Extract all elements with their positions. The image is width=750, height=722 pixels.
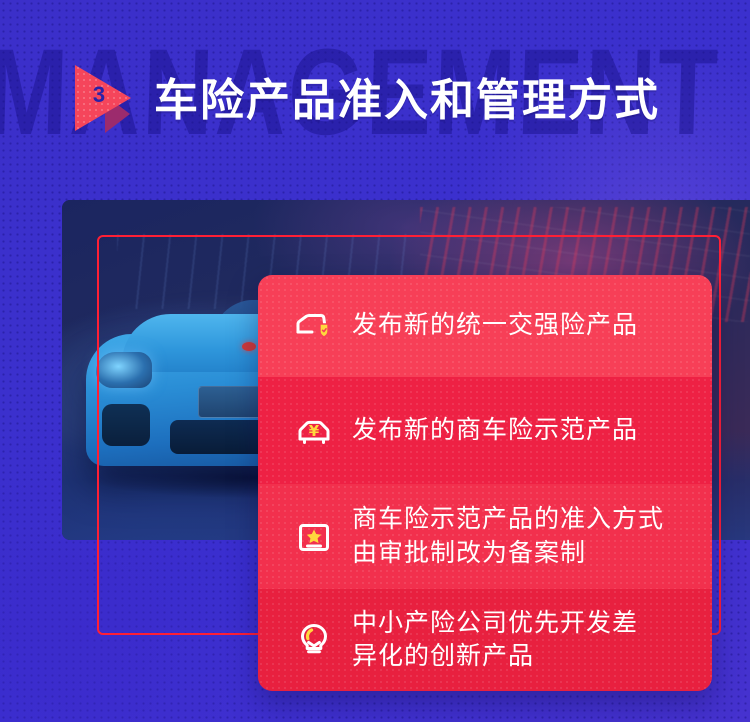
card-row-3[interactable]: 商车险示范产品的准入方式 由审批制改为备案制 [258,484,712,589]
card-row-4-text: 中小产险公司优先开发差 异化的创新产品 [352,607,638,674]
card-row-2[interactable]: ¥ 发布新的商车险示范产品 [258,377,712,484]
points-card: 发布新的统一交强险产品 ¥ 发布新的商车险示范产品 [258,275,712,691]
page-header: 3 车险产品准入和管理方式 [0,56,750,146]
card-row-4[interactable]: 中小产险公司优先开发差 异化的创新产品 [258,589,712,691]
triangle-play-icon: 3 [72,59,148,143]
page-title: 车险产品准入和管理方式 [154,79,660,123]
lightbulb-icon [294,619,334,661]
car-shield-icon [294,305,334,347]
svg-text:¥: ¥ [309,422,320,440]
card-row-2-text: 发布新的商车险示范产品 [352,414,638,447]
card-row-1-text: 发布新的统一交强险产品 [352,309,638,342]
card-row-3-text: 商车险示范产品的准入方式 由审批制改为备案制 [352,503,664,570]
certificate-star-icon [294,516,334,558]
card-row-1[interactable]: 发布新的统一交强险产品 [258,275,712,377]
car-yuan-icon: ¥ [294,410,334,452]
step-number: 3 [88,84,110,106]
infographic-page: MANAGEMENT 3 车险产品准入和管理方式 [0,0,750,722]
